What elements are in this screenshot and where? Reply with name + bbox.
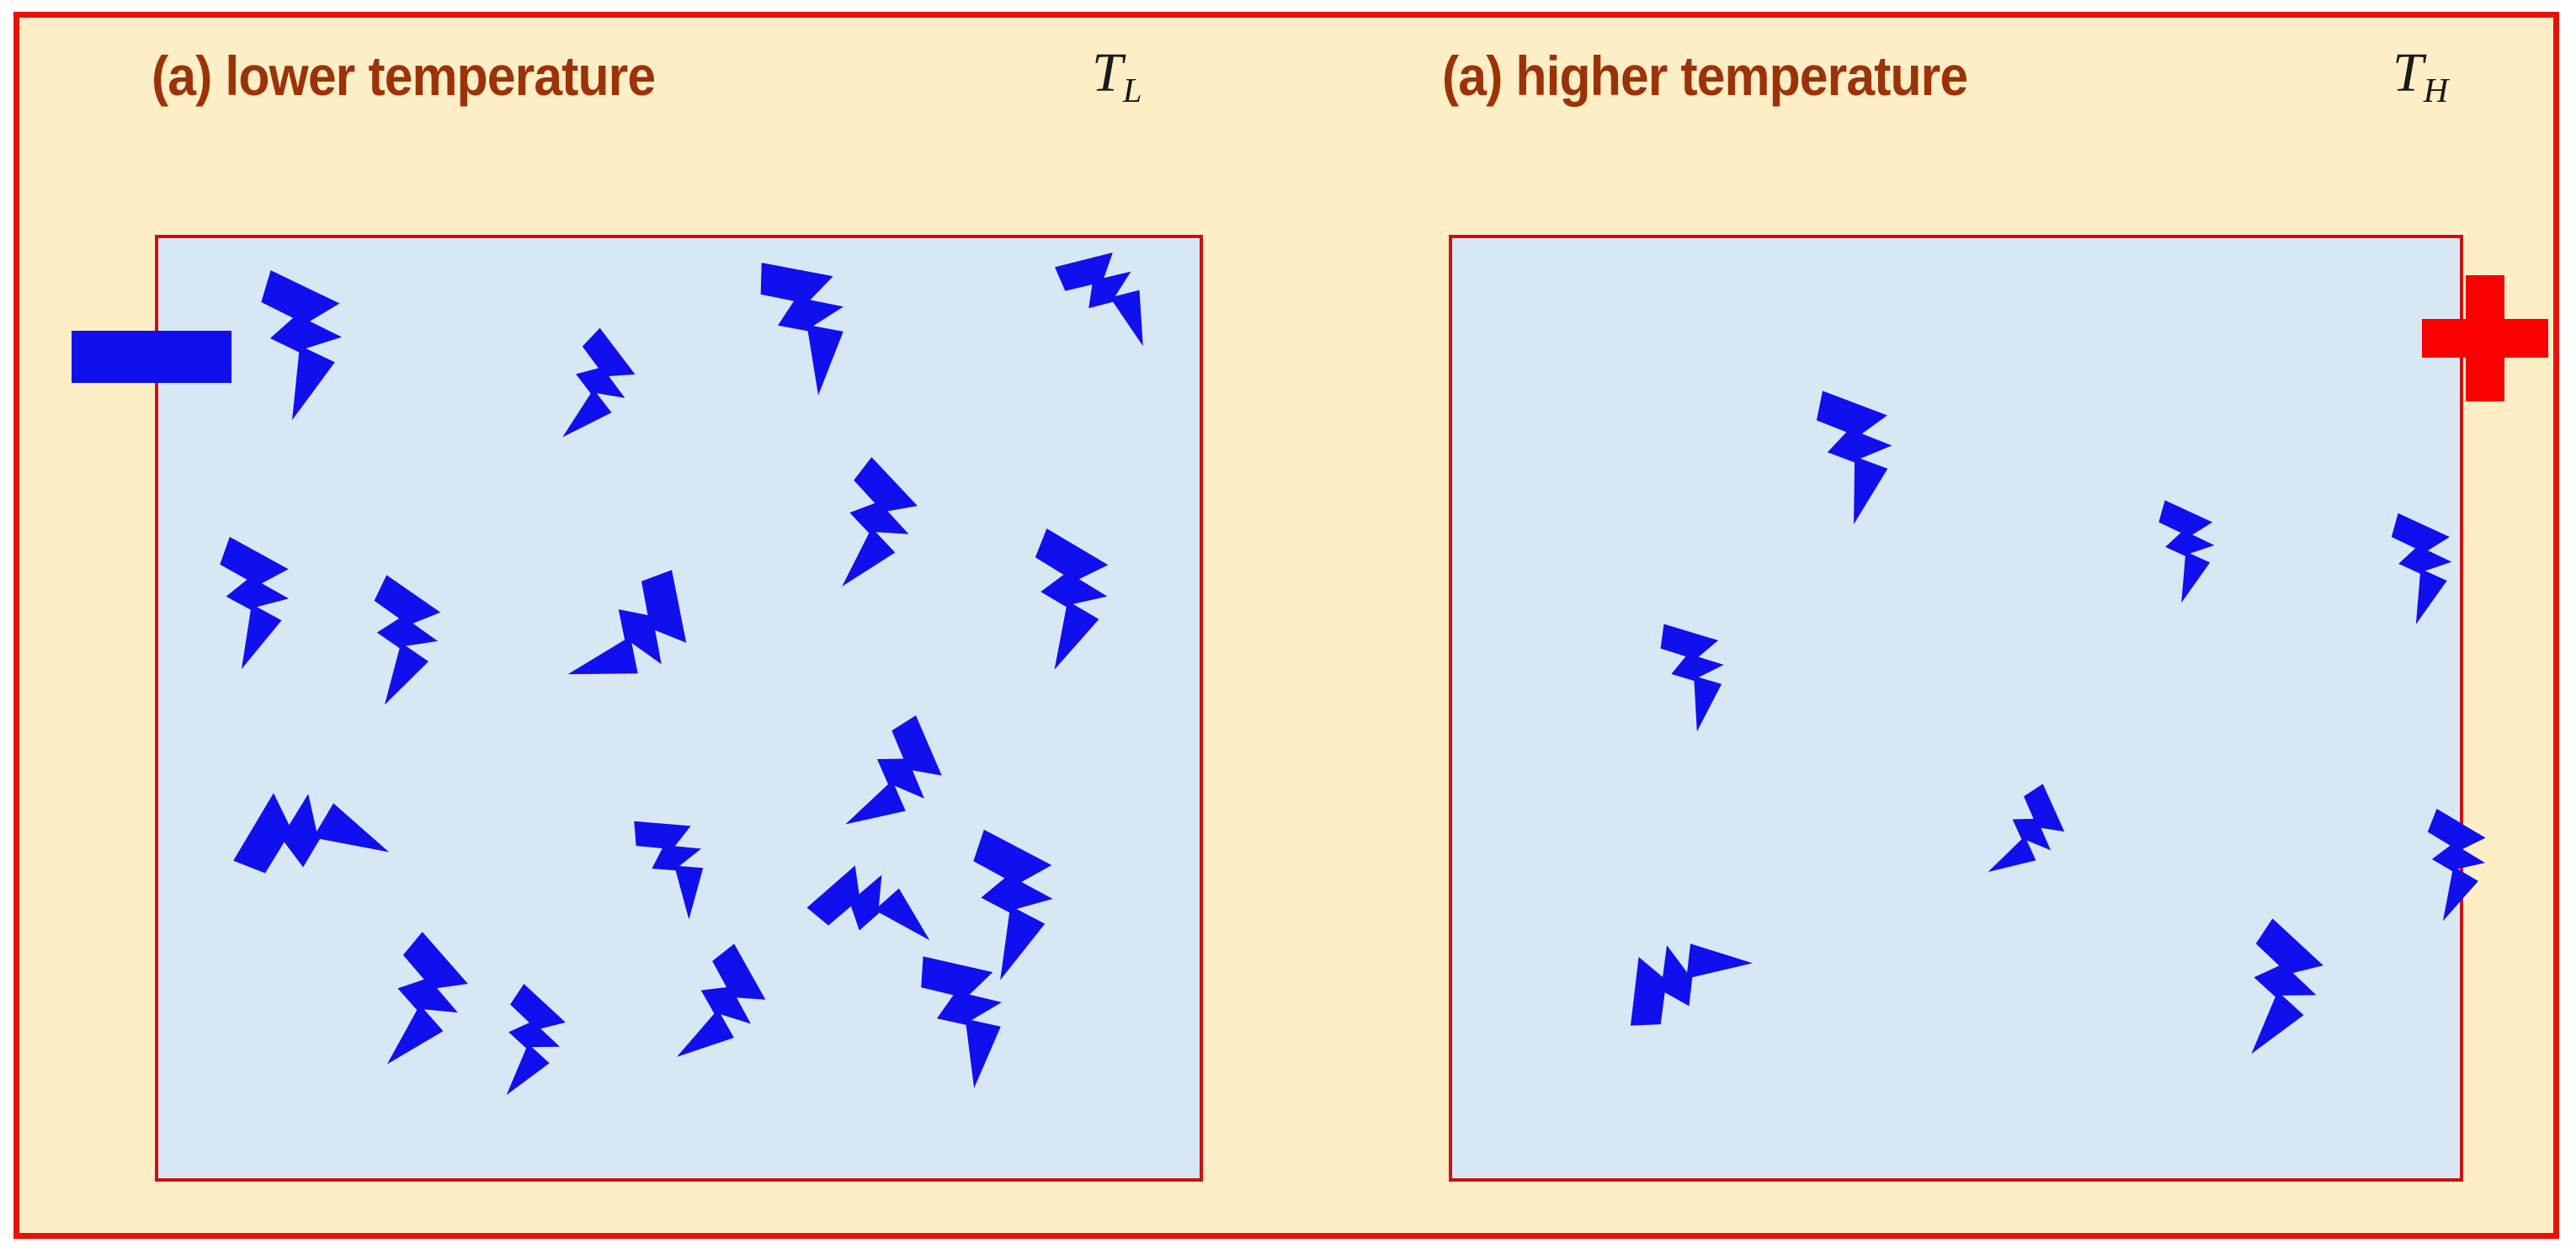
temperature-symbol-higher: TH <box>2392 41 2448 110</box>
lightning-bolt-molecule-icon <box>1773 381 1911 525</box>
lightning-bolt-molecule-icon <box>647 940 774 1058</box>
lightning-bolt-molecule-icon <box>2194 911 2340 1055</box>
crescent-molecule-icon <box>1773 665 1839 706</box>
crescent-molecule-icon <box>2243 1052 2323 1110</box>
symbol-subscript: H <box>2424 72 2449 109</box>
symbol-subscript: L <box>1123 72 1142 109</box>
minus-sign-icon <box>72 331 232 383</box>
crescent-molecule-icon <box>2053 937 2126 1006</box>
symbol-base: T <box>2392 42 2424 104</box>
crescent-molecule-icon <box>1654 1035 1722 1129</box>
temperature-symbol-lower: TL <box>1092 41 1142 110</box>
lightning-bolt-molecule-icon <box>615 812 712 920</box>
crescent-molecule-icon <box>955 1039 1017 1114</box>
crescent-molecule-icon <box>2116 861 2185 900</box>
figure-root: (a) lower temperature TL (a) higher temp… <box>0 0 2576 1254</box>
crescent-molecule-icon <box>907 298 981 367</box>
crescent-molecule-icon <box>1542 290 1634 338</box>
lightning-bolt-molecule-icon <box>1620 931 1753 1053</box>
crescent-molecule-icon <box>1974 448 2029 524</box>
crescent-molecule-icon <box>476 1007 519 1071</box>
crescent-molecule-icon <box>1867 976 1938 1017</box>
molecule-layer-higher <box>1452 238 2460 1178</box>
lightning-bolt-molecule-icon <box>918 820 1076 981</box>
lightning-bolt-molecule-icon <box>224 769 391 933</box>
crescent-molecule-icon <box>1883 278 1979 358</box>
crescent-molecule-icon <box>2303 518 2368 574</box>
lightning-bolt-molecule-icon <box>1054 251 1144 353</box>
crescent-molecule-icon <box>2395 702 2464 741</box>
crescent-molecule-icon <box>679 709 737 789</box>
gas-container-higher <box>1449 235 2463 1182</box>
lightning-bolt-molecule-icon <box>2384 802 2503 922</box>
lightning-bolt-molecule-icon <box>1970 782 2070 874</box>
symbol-base: T <box>1092 42 1123 104</box>
crescent-molecule-icon <box>1536 465 1592 550</box>
crescent-molecule-icon <box>2000 837 2072 894</box>
panel-title-higher-temperature: (a) higher temperature <box>1442 44 1967 108</box>
lightning-bolt-molecule-icon <box>824 713 948 826</box>
lightning-bolt-molecule-icon <box>2122 493 2229 603</box>
lightning-bolt-molecule-icon <box>170 529 309 670</box>
crescent-molecule-icon <box>318 465 387 538</box>
crescent-molecule-icon <box>1906 676 2003 765</box>
crescent-molecule-icon <box>1770 492 1844 530</box>
lightning-bolt-molecule-icon <box>321 567 459 705</box>
panel-title-lower-temperature: (a) lower temperature <box>152 44 655 108</box>
lightning-bolt-molecule-icon <box>1628 616 1738 732</box>
crescent-molecule-icon <box>641 406 705 509</box>
molecule-layer-lower <box>158 238 1200 1178</box>
crescent-molecule-icon <box>937 891 1005 965</box>
plus-sign-icon <box>2422 275 2548 401</box>
lightning-bolt-molecule-icon <box>459 978 579 1096</box>
lightning-bolt-molecule-icon <box>2352 506 2468 625</box>
lightning-bolt-molecule-icon <box>791 451 932 587</box>
crescent-molecule-icon <box>2289 805 2382 900</box>
lightning-bolt-molecule-icon <box>525 324 646 438</box>
lightning-bolt-molecule-icon <box>981 520 1130 671</box>
lightning-bolt-molecule-icon <box>801 853 931 986</box>
gas-container-lower <box>155 235 1203 1182</box>
lightning-bolt-molecule-icon <box>885 946 1019 1089</box>
lightning-bolt-molecule-icon <box>338 926 482 1065</box>
crescent-molecule-icon <box>2201 270 2289 357</box>
crescent-molecule-icon <box>985 788 1047 888</box>
lightning-bolt-molecule-icon <box>564 570 687 676</box>
crescent-molecule-icon <box>1528 805 1617 904</box>
figure-outer-frame: (a) lower temperature TL (a) higher temp… <box>13 12 2559 1239</box>
lightning-bolt-molecule-icon <box>726 252 860 396</box>
